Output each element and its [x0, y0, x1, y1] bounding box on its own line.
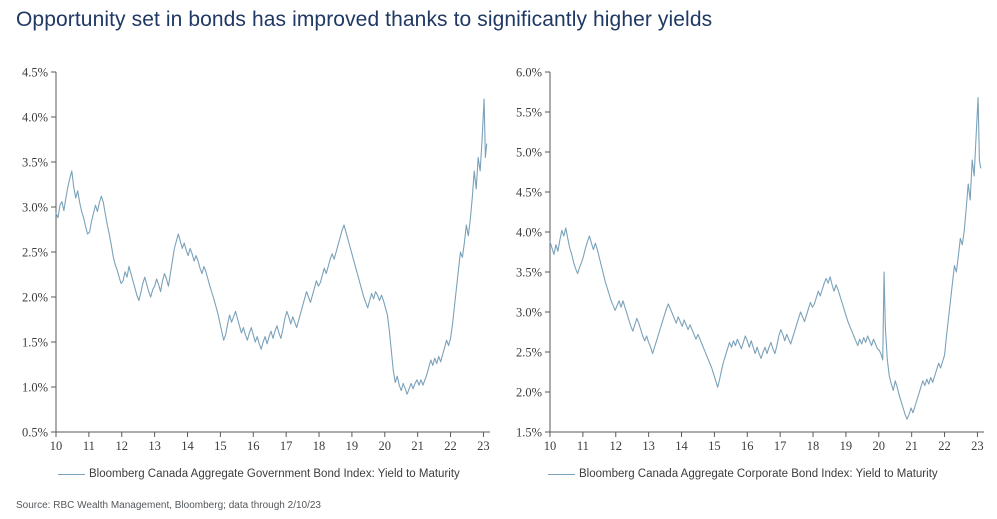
y-axis-tick-label: 6.0%: [516, 66, 542, 80]
legend-label-government: Bloomberg Canada Aggregate Government Bo…: [89, 468, 460, 480]
x-axis-tick-label: 22: [938, 439, 951, 453]
x-axis-tick-label: 21: [411, 439, 424, 453]
y-axis-tick-label: 2.5%: [22, 246, 48, 260]
y-axis-tick-label: 1.5%: [22, 336, 48, 350]
x-axis-tick-label: 10: [50, 439, 63, 453]
x-axis-tick-label: 16: [247, 439, 260, 453]
y-axis-tick-label: 5.5%: [516, 106, 542, 120]
x-axis-tick-label: 12: [610, 439, 623, 453]
chart-panel-corporate: 6.0%5.5%5.0%4.5%4.0%3.5%3.0%2.5%2.0%1.5%…: [500, 58, 997, 478]
x-axis-tick-label: 14: [675, 439, 688, 453]
x-axis-tick-label: 18: [313, 439, 326, 453]
legend-swatch-government-icon: [58, 474, 85, 475]
x-axis-tick-label: 18: [807, 439, 820, 453]
chart-panel-government: 4.5%4.0%3.5%3.0%2.5%2.0%1.5%1.0%0.5%1011…: [0, 58, 500, 478]
legend-label-corporate: Bloomberg Canada Aggregate Corporate Bon…: [579, 468, 938, 480]
legend-corporate: Bloomberg Canada Aggregate Corporate Bon…: [548, 468, 938, 480]
x-axis-tick-label: 22: [444, 439, 457, 453]
y-axis-tick-label: 4.0%: [22, 111, 48, 125]
legend-government: Bloomberg Canada Aggregate Government Bo…: [58, 468, 460, 480]
y-axis-tick-label: 3.5%: [516, 266, 542, 280]
x-axis-tick-label: 21: [905, 439, 918, 453]
page-title: Opportunity set in bonds has improved th…: [16, 8, 712, 32]
x-axis-tick-label: 11: [577, 439, 589, 453]
data-line-government: [56, 99, 487, 394]
x-axis-tick-label: 20: [873, 439, 886, 453]
y-axis-tick-label: 5.0%: [516, 146, 542, 160]
x-axis-tick-label: 19: [346, 439, 359, 453]
y-axis-tick-label: 4.5%: [516, 186, 542, 200]
x-axis-tick-label: 23: [971, 439, 984, 453]
y-axis-tick-label: 3.0%: [516, 306, 542, 320]
x-axis-tick-label: 20: [379, 439, 392, 453]
x-axis-tick-label: 10: [544, 439, 557, 453]
legend-swatch-corporate-icon: [548, 474, 575, 475]
y-axis-tick-label: 2.0%: [516, 386, 542, 400]
x-axis-tick-label: 17: [774, 439, 787, 453]
y-axis-tick-label: 1.0%: [22, 381, 48, 395]
x-axis-tick-label: 14: [181, 439, 194, 453]
y-axis-tick-label: 1.5%: [516, 426, 542, 440]
x-axis-tick-label: 23: [477, 439, 490, 453]
y-axis-tick-label: 0.5%: [22, 426, 48, 440]
x-axis-tick-label: 17: [280, 439, 293, 453]
line-chart-corporate: 6.0%5.5%5.0%4.5%4.0%3.5%3.0%2.5%2.0%1.5%…: [500, 58, 997, 478]
x-axis-tick-label: 15: [708, 439, 721, 453]
y-axis-tick-label: 3.5%: [22, 156, 48, 170]
x-axis-tick-label: 12: [116, 439, 129, 453]
y-axis-tick-label: 2.5%: [516, 346, 542, 360]
source-note: Source: RBC Wealth Management, Bloomberg…: [16, 500, 321, 511]
x-axis-tick-label: 15: [214, 439, 227, 453]
y-axis-tick-label: 4.0%: [516, 226, 542, 240]
y-axis-tick-label: 4.5%: [22, 66, 48, 80]
x-axis-tick-label: 13: [148, 439, 161, 453]
x-axis-tick-label: 19: [840, 439, 853, 453]
x-axis-tick-label: 11: [83, 439, 95, 453]
x-axis-tick-label: 13: [642, 439, 655, 453]
y-axis-tick-label: 3.0%: [22, 201, 48, 215]
x-axis-tick-label: 16: [741, 439, 754, 453]
y-axis-tick-label: 2.0%: [22, 291, 48, 305]
line-chart-government: 4.5%4.0%3.5%3.0%2.5%2.0%1.5%1.0%0.5%1011…: [0, 58, 500, 478]
data-line-corporate: [550, 98, 981, 420]
